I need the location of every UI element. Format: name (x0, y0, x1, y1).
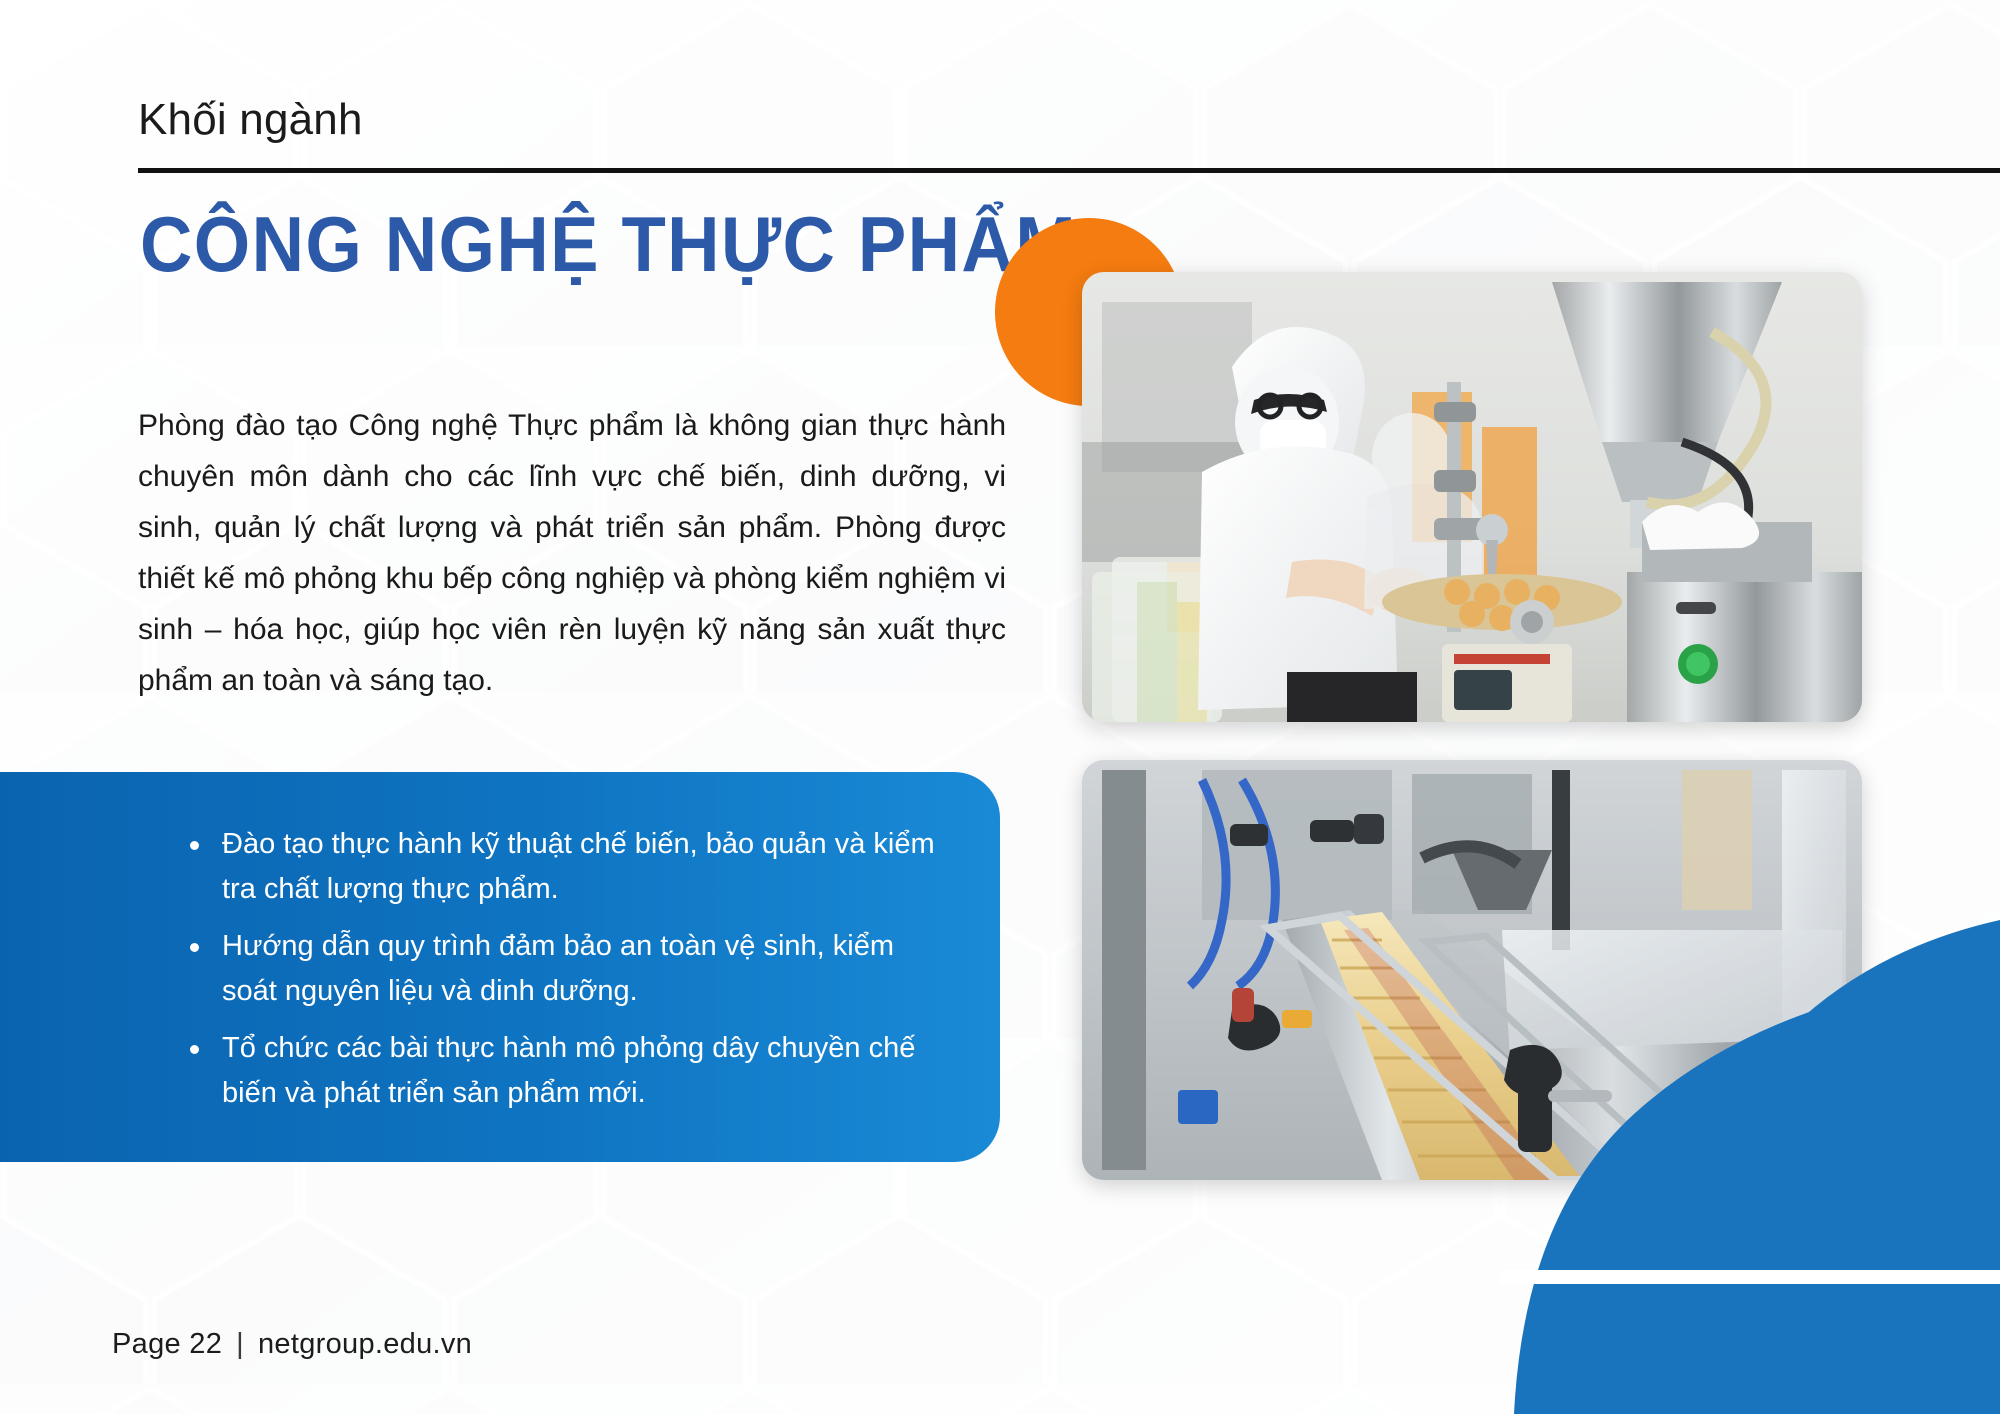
photo-packaging-conveyor-line (1082, 760, 1862, 1180)
intro-paragraph: Phòng đào tạo Công nghệ Thực phẩm là khô… (138, 400, 1006, 706)
photo-food-processing-operator (1082, 272, 1862, 722)
footer-website: netgroup.edu.vn (258, 1328, 472, 1360)
list-item: Hướng dẫn quy trình đảm bảo an toàn vệ s… (186, 924, 956, 1014)
list-item: Đào tạo thực hành kỹ thuật chế biến, bảo… (186, 822, 956, 912)
footer-separator: | (222, 1328, 258, 1361)
highlights-list: Đào tạo thực hành kỹ thuật chế biến, bảo… (186, 822, 956, 1128)
page-number: Page 22 (112, 1328, 222, 1360)
list-item: Tổ chức các bài thực hành mô phỏng dây c… (186, 1026, 956, 1116)
section-eyebrow-label: Khối ngành (138, 95, 363, 145)
footer: Page 22|netgroup.edu.vn (112, 1328, 472, 1361)
slide-canvas: Khối ngành CÔNG NGHỆ THỰC PHẨM Phòng đào… (0, 0, 2000, 1414)
header-divider-rule (138, 168, 2000, 173)
page-title: CÔNG NGHỆ THỰC PHẨM (140, 205, 1077, 283)
